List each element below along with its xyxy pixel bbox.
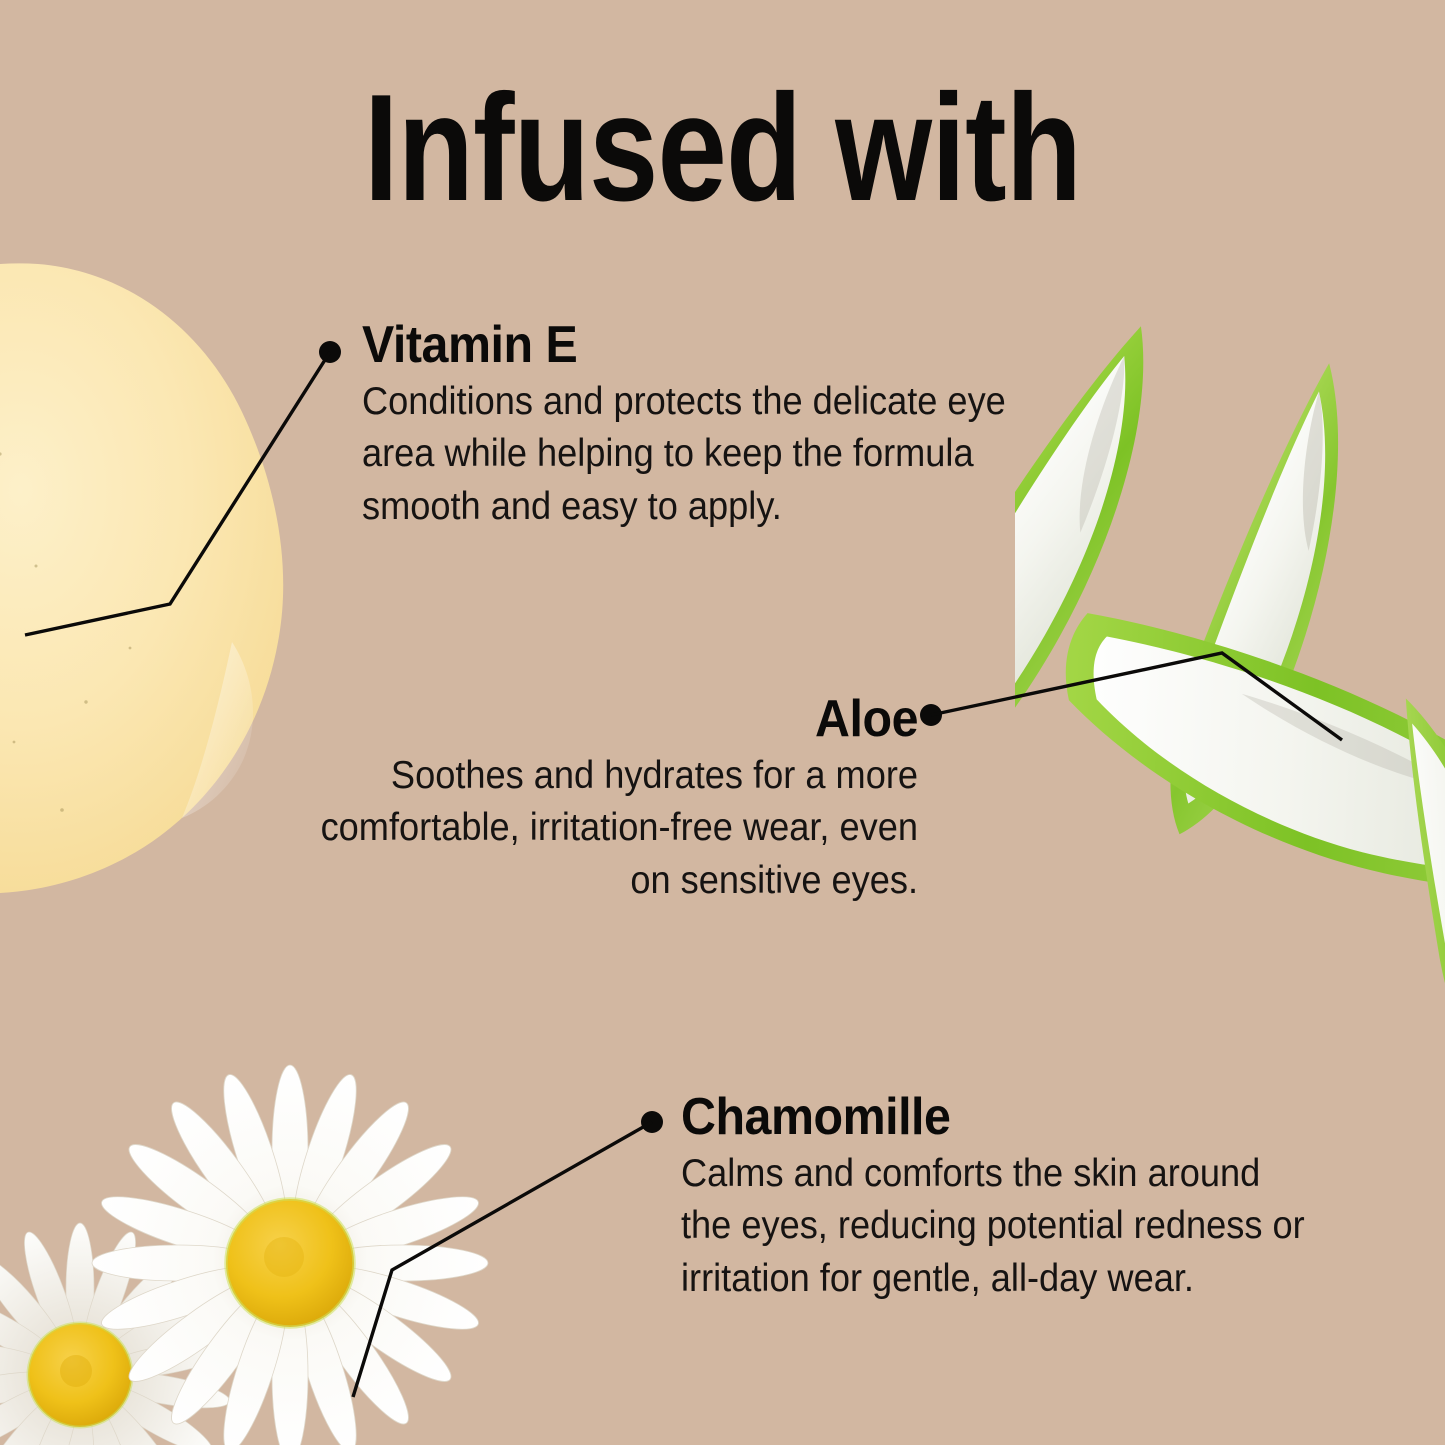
ingredient-block-aloe: Aloe Soothes and hydrates for a more com… xyxy=(258,692,918,907)
ingredient-description-aloe: Soothes and hydrates for a more comforta… xyxy=(298,750,918,907)
chamomile-flowers-image xyxy=(0,1045,610,1445)
infographic-canvas: Infused with Vitamin E Conditions and pr… xyxy=(0,0,1445,1445)
leader-line-aloe xyxy=(920,653,1342,740)
ingredient-block-chamomille: Chamomille Calms and comforts the skin a… xyxy=(681,1090,1361,1305)
leader-line-vitamin-e xyxy=(25,341,341,635)
leader-line-chamomille xyxy=(353,1111,663,1397)
ingredient-description-chamomille: Calms and comforts the skin around the e… xyxy=(681,1148,1320,1305)
ingredient-block-vitamin-e: Vitamin E Conditions and protects the de… xyxy=(362,318,1062,533)
page-title: Infused with xyxy=(130,72,1315,224)
ingredient-name-chamomille: Chamomille xyxy=(681,1090,1313,1144)
ingredient-name-aloe: Aloe xyxy=(304,692,918,746)
ingredient-description-vitamin-e: Conditions and protects the delicate eye… xyxy=(362,376,1020,533)
aloe-leaves-image xyxy=(1015,290,1445,1000)
ingredient-name-vitamin-e: Vitamin E xyxy=(362,318,1013,372)
